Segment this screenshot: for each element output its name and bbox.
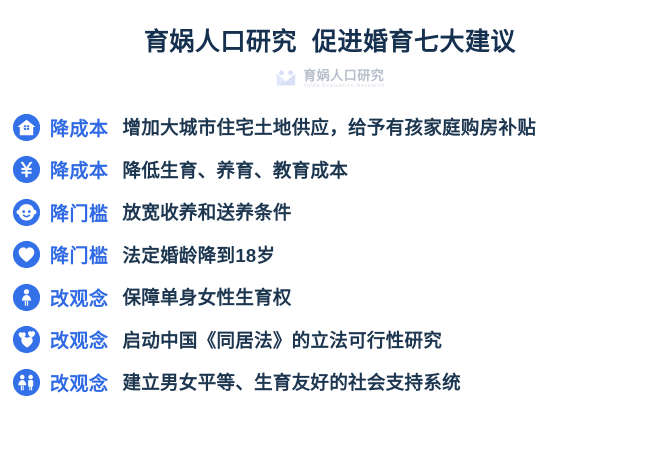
list-item-tag: 降门槛 xyxy=(50,199,109,226)
list-item-tag: 降成本 xyxy=(50,156,109,183)
list-item-tag: 降门槛 xyxy=(50,241,109,268)
header: 育娲人口研究 促进婚育七大建议 xyxy=(0,0,660,58)
list-item-text: 降低生育、养育、教育成本 xyxy=(123,157,349,183)
list-item-tag: 降成本 xyxy=(50,114,109,141)
list-item: 改观念 保障单身女性生育权 xyxy=(12,276,660,319)
list-item-tag: 改观念 xyxy=(50,369,109,396)
list-item: 降成本 降低生育、养育、教育成本 xyxy=(12,149,660,192)
list-item-text: 保障单身女性生育权 xyxy=(123,284,292,310)
house-icon xyxy=(12,113,41,142)
list-item-text: 放宽收养和送养条件 xyxy=(123,199,292,225)
list-item-text: 增加大城市住宅土地供应，给予有孩家庭购房补贴 xyxy=(123,114,537,140)
couple-icon xyxy=(12,368,41,397)
list-item: 降门槛 法定婚龄降到18岁 xyxy=(12,234,660,277)
page-title: 育娲人口研究 促进婚育七大建议 xyxy=(0,26,660,58)
list-item-tag: 改观念 xyxy=(50,326,109,353)
baby-face-icon xyxy=(12,198,41,227)
female-figure-icon xyxy=(12,283,41,312)
yuan-icon xyxy=(12,155,41,184)
logo-name-en: YuWa Population Research xyxy=(303,84,384,90)
heart-icon xyxy=(12,240,41,269)
list-item-text: 启动中国《同居法》的立法可行性研究 xyxy=(123,327,443,353)
hearts-icon xyxy=(12,325,41,354)
yuwa-logo-icon xyxy=(275,68,297,90)
list-item: 降门槛 放宽收养和送养条件 xyxy=(12,191,660,234)
logo-text-group: 育娲人口研究 YuWa Population Research xyxy=(303,69,384,90)
list-item: 改观念 建立男女平等、生育友好的社会支持系统 xyxy=(12,361,660,404)
list-item-text: 法定婚龄降到18岁 xyxy=(123,242,276,268)
brand-logo: 育娲人口研究 YuWa Population Research xyxy=(0,68,660,90)
list-item-tag: 改观念 xyxy=(50,284,109,311)
list-item: 改观念 启动中国《同居法》的立法可行性研究 xyxy=(12,319,660,362)
list-item-text: 建立男女平等、生育友好的社会支持系统 xyxy=(123,369,461,395)
list-item: 降成本 增加大城市住宅土地供应，给予有孩家庭购房补贴 xyxy=(12,106,660,149)
recommendation-list: 降成本 增加大城市住宅土地供应，给予有孩家庭购房补贴 降成本 降低生育、养育、教… xyxy=(0,106,660,404)
logo-name-cn: 育娲人口研究 xyxy=(303,69,384,82)
